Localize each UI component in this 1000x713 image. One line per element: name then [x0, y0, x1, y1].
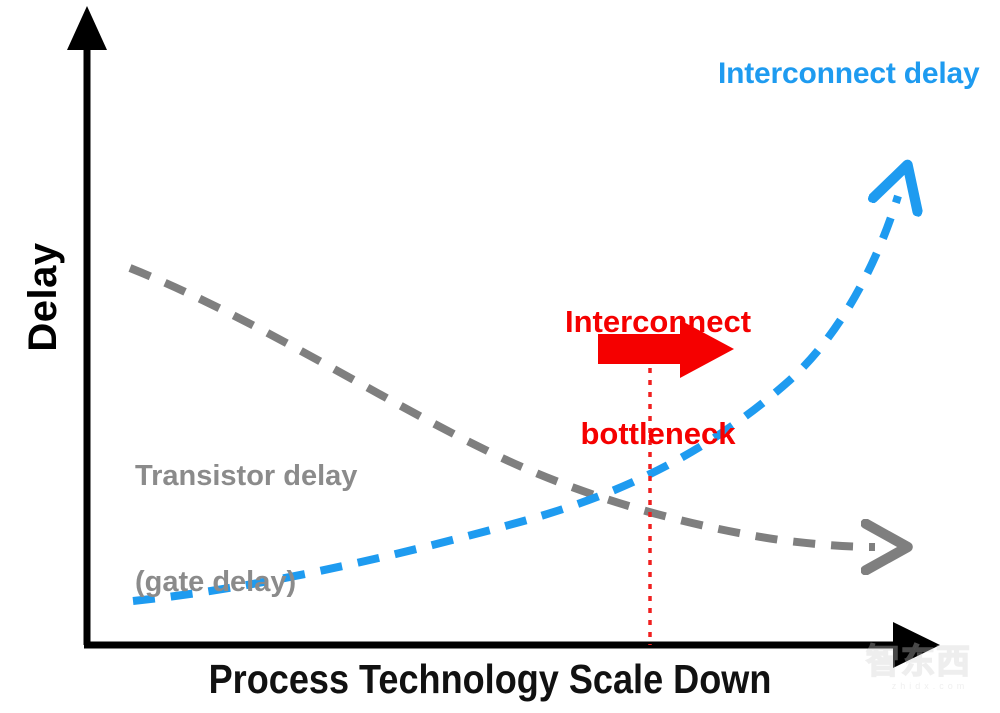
interconnect-bottleneck-label: Interconnect bottleneck: [543, 229, 773, 527]
bottleneck-label-line1: Interconnect: [543, 303, 773, 340]
transistor-delay-label-line2: (gate delay): [135, 565, 357, 600]
chart-canvas: Delay Process Technology Scale Down Tran…: [0, 0, 1000, 713]
bottleneck-label-line2: bottleneck: [543, 415, 773, 452]
transistor-delay-label: Transistor delay (gate delay): [135, 388, 357, 671]
y-axis-arrowhead: [67, 6, 107, 50]
y-axis-title: Delay: [22, 242, 64, 352]
interconnect-delay-label: Interconnect delay: [718, 58, 979, 90]
y-axis: [67, 6, 107, 645]
transistor-delay-label-line1: Transistor delay: [135, 459, 357, 494]
x-axis-arrowhead: [893, 622, 940, 668]
